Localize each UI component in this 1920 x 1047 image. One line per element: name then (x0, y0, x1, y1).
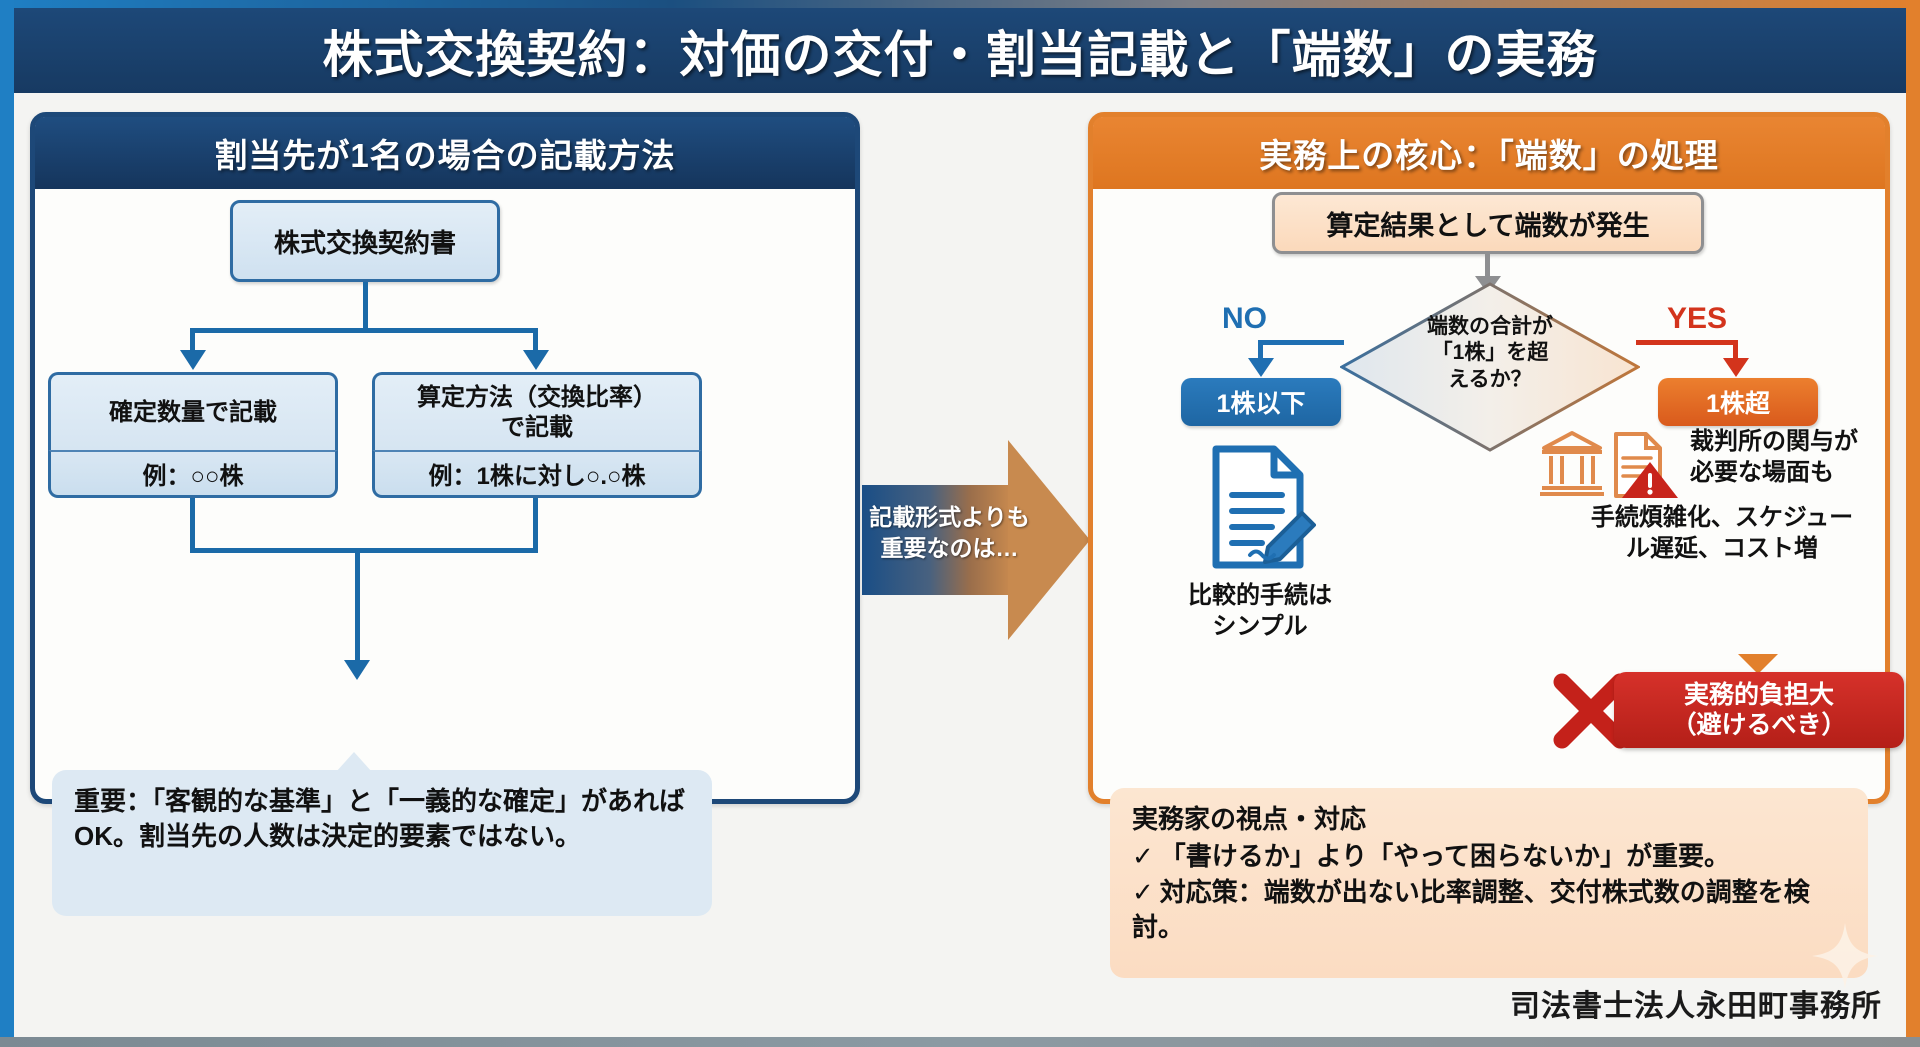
node-heavy-burden: 実務的負担大 （避けるべき） (1614, 672, 1904, 748)
connector-start-to-decision (1485, 254, 1490, 278)
decision-text: 端数の合計が 「1株」を超 えるか？ (1340, 314, 1640, 393)
decision-no-label: NO (1222, 302, 1267, 336)
connector-yes-vertical (1733, 340, 1738, 360)
connector-contract-stem (363, 282, 368, 328)
connector-opt2-down (533, 498, 538, 552)
heavy-burden-line1: 実務的負担大 (1671, 680, 1846, 711)
decision-line1: 端数の合計が (1340, 314, 1640, 340)
checkmark-bullet-2: ✓ (1132, 877, 1154, 907)
footer-credit: 司法書士法人永田町事務所 (1510, 981, 1882, 1025)
connector-no-horizontal (1258, 340, 1344, 345)
court-caption-line2: 必要な場面も (1690, 457, 1910, 488)
note-right-item-2: ✓対応策：端数が出ない比率調整、交付株式数の調整を検討。 (1132, 875, 1846, 946)
court-caption-line1: 裁判所の関与が (1690, 426, 1910, 457)
arrowhead-right-option (523, 350, 549, 370)
title-bar: 株式交換契約：対価の交付・割当記載と「端数」の実務 (14, 8, 1906, 93)
infographic-canvas: 株式交換契約：対価の交付・割当記載と「端数」の実務 割当先が1名の場合の記載方法… (0, 0, 1920, 1047)
heavy-burden-line2: （避けるべき） (1671, 710, 1846, 741)
transition-arrow-text: 記載形式よりも 重要なのは… (862, 502, 1037, 564)
decision-diamond: 端数の合計が 「1株」を超 えるか？ (1340, 282, 1640, 452)
option-card-ratio-method: 算定方法（交換比率） で記載 例：1株に対し○.○株 (372, 372, 702, 498)
left-panel-header: 割当先が1名の場合の記載方法 (35, 117, 855, 189)
left-edge-accent (0, 0, 14, 1047)
connector-opt1-down (190, 498, 195, 552)
note-right-heading: 実務家の視点・対応 (1132, 802, 1846, 837)
yes-branch-court-caption: 裁判所の関与が 必要な場面も (1690, 426, 1910, 488)
node-contract-document: 株式交換契約書 (230, 200, 500, 282)
arrowhead-no-branch (1248, 358, 1274, 377)
yes-branch-icon-group (1538, 428, 1684, 500)
bottom-edge-accent (0, 1037, 1920, 1047)
node-fraction-occurs: 算定結果として端数が発生 (1272, 192, 1704, 254)
transition-arrow-line1: 記載形式よりも (862, 502, 1037, 533)
transition-arrow: 記載形式よりも 重要なのは… (862, 440, 1090, 640)
decision-line2: 「1株」を超 (1340, 340, 1640, 366)
note-right-practitioner: 実務家の視点・対応 ✓「書けるか」より「やって困らないか」が重要。 ✓対応策：端… (1110, 788, 1868, 978)
yes-branch-burden-caption: 手続煩雑化、スケジュー ル遅延、コスト増 (1528, 502, 1916, 564)
node-contract-label: 株式交換契約書 (274, 223, 456, 260)
connector-merge-bar (190, 548, 538, 553)
connector-contract-bar (193, 328, 538, 333)
connector-left-drop (190, 328, 195, 350)
top-accent-strip (0, 0, 1920, 8)
arrowhead-yes-branch (1723, 358, 1749, 377)
connector-no-vertical (1258, 340, 1263, 360)
no-branch-caption-line1: 比較的手続は (1135, 580, 1385, 611)
pill-over-label: 1株超 (1706, 384, 1770, 420)
pill-under-label: 1株以下 (1217, 384, 1306, 420)
note-right-item-1-text: 「書けるか」より「やって困らないか」が重要。 (1160, 841, 1730, 871)
connector-right-drop (533, 328, 538, 350)
document-signature-icon (1206, 443, 1316, 571)
option-2-title: 算定方法（交換比率） で記載 (372, 372, 702, 450)
left-panel-header-label: 割当先が1名の場合の記載方法 (214, 129, 675, 177)
connector-yes-horizontal (1636, 340, 1738, 345)
note-left-tail (336, 752, 372, 772)
burden-caption-line1: 手続煩雑化、スケジュー (1528, 502, 1916, 533)
arrowhead-left-option (180, 350, 206, 370)
heavy-burden-arrow (1738, 654, 1778, 674)
page-title: 株式交換契約：対価の交付・割当記載と「端数」の実務 (323, 15, 1598, 87)
burden-caption-line2: ル遅延、コスト増 (1528, 533, 1916, 564)
pill-over-one-share: 1株超 (1658, 378, 1818, 426)
option-2-example: 例：1株に対し○.○株 (372, 450, 702, 498)
option-card-fixed-quantity: 確定数量で記載 例：○○株 (48, 372, 338, 498)
option-1-title: 確定数量で記載 (48, 372, 338, 450)
note-right-item-1: ✓「書けるか」より「やって困らないか」が重要。 (1132, 839, 1846, 874)
note-left-important: 重要：「客観的な基準」と「一義的な確定」があればOK。割当先の人数は決定的要素で… (52, 770, 712, 916)
courthouse-icon (1540, 433, 1604, 494)
arrowhead-both-possible (344, 660, 370, 680)
right-panel-header-label: 実務上の核心：「端数」の処理 (1259, 129, 1719, 177)
decision-yes-label: YES (1667, 302, 1727, 336)
pill-one-share-or-less: 1株以下 (1181, 378, 1341, 426)
node-fraction-label: 算定結果として端数が発生 (1326, 204, 1649, 243)
note-right-item-2-text: 対応策：端数が出ない比率調整、交付株式数の調整を検討。 (1132, 877, 1810, 942)
connector-merge-stem (355, 548, 360, 660)
right-panel-header: 実務上の核心：「端数」の処理 (1093, 117, 1885, 189)
no-branch-caption-line2: シンプル (1135, 611, 1385, 642)
transition-arrow-line2: 重要なのは… (862, 533, 1037, 564)
decision-line3: えるか？ (1340, 367, 1640, 393)
option-1-example: 例：○○株 (48, 450, 338, 498)
checkmark-bullet-1: ✓ (1132, 841, 1154, 871)
no-branch-caption: 比較的手続は シンプル (1135, 580, 1385, 642)
